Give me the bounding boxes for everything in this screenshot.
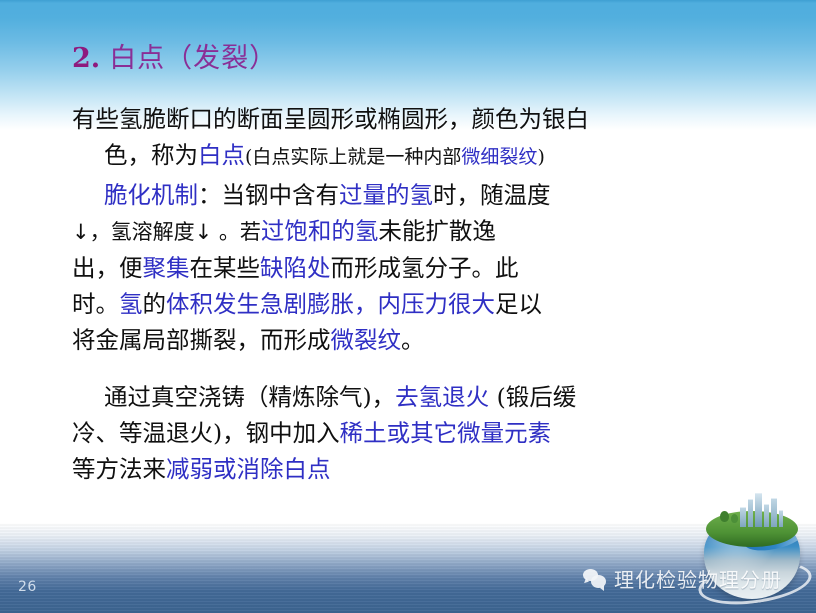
paragraph-2: 脆化机制：当钢中含有过量的氢时，随温度 ↓，氢溶解度↓ 。若过饱和的氢未能扩散逸… xyxy=(72,177,712,358)
slide-title-number: 2. xyxy=(72,43,100,74)
p3-line-2: 冷、等温退火)，钢中加入稀土或其它微量元素 xyxy=(72,415,712,451)
p2-line-2: ↓，氢溶解度↓ 。若过饱和的氢未能扩散逸 xyxy=(72,213,712,250)
p3-line-3: 等方法来减弱或消除白点 xyxy=(72,451,712,487)
p2-l5-text-b: 。 xyxy=(401,326,425,354)
p1-l2-note-a: (白点实际上就是一种内部 xyxy=(245,146,461,168)
p2-l2-text-b: 未能扩散逸 xyxy=(378,217,496,245)
slide-body: 有些氢脆断口的断面呈圆形或椭圆形，颜色为银白 色，称为白点(白点实际上就是一种内… xyxy=(72,101,712,487)
watermark-label: 理化检验物理分册 xyxy=(614,564,782,593)
slide-title-text: 白点（发裂） xyxy=(109,36,277,75)
p3-l2-highlight: 稀土或其它微量元素 xyxy=(340,419,552,447)
p2-l5-text-a: 将金属局部撕裂，而形成 xyxy=(72,326,331,354)
p1-l2-note-highlight: 微细裂纹 xyxy=(461,146,537,168)
p2-l4-text-a: 时。 xyxy=(72,290,119,318)
p2-line-3: 出，便聚集在某些缺陷处而形成氢分子。此 xyxy=(72,250,712,286)
paragraph-1: 有些氢脆断口的断面呈圆形或椭圆形，颜色为银白 色，称为白点(白点实际上就是一种内… xyxy=(72,101,712,175)
p3-line-1: 通过真空浇铸（精炼除气)，去氢退火 (锻后缓 xyxy=(72,379,712,415)
p1-l2-text-a: 色，称为 xyxy=(104,141,198,169)
p2-l4-highlight-2: 体积发生急剧膨胀，内压力很大 xyxy=(166,290,495,318)
p2-l3-text-b: 在某些 xyxy=(190,254,261,282)
p2-l4-highlight-1: 氢 xyxy=(119,290,143,318)
p2-l1-highlight-2: 过量的氢 xyxy=(339,181,433,209)
p1-line-1: 有些氢脆断口的断面呈圆形或椭圆形，颜色为银白 xyxy=(72,101,712,137)
p1-l2-highlight: 白点 xyxy=(198,141,245,169)
p3-l1-highlight: 去氢退火 xyxy=(395,383,489,411)
p2-l5-highlight: 微裂纹 xyxy=(331,326,402,354)
p2-l4-text-c: 足以 xyxy=(495,290,542,318)
page-number: 26 xyxy=(18,579,37,595)
p2-line-4: 时。氢的体积发生急剧膨胀，内压力很大足以 xyxy=(72,286,712,322)
p2-line-5: 将金属局部撕裂，而形成微裂纹。 xyxy=(72,322,712,358)
p3-l1-text-a: 通过真空浇铸（精炼除气)， xyxy=(104,383,395,411)
p2-l2-highlight: 过饱和的氢 xyxy=(261,217,379,245)
p3-l3-text-a: 等方法来 xyxy=(72,455,166,483)
presentation-slide: 2. 白点（发裂） 有些氢脆断口的断面呈圆形或椭圆形，颜色为银白 色，称为白点(… xyxy=(0,0,816,613)
watermark: 理化检验物理分册 xyxy=(583,564,782,593)
slide-title: 2. 白点（发裂） xyxy=(72,36,277,75)
city-skyline-icon xyxy=(738,493,784,527)
p2-l3-highlight-1: 聚集 xyxy=(143,254,190,282)
tree-icon xyxy=(720,511,729,522)
p3-l2-text-a: 冷、等温退火)，钢中加入 xyxy=(72,419,340,447)
wechat-icon xyxy=(583,569,607,589)
p2-l1-text-b: 时，随温度 xyxy=(433,181,551,209)
p2-l3-highlight-2: 缺陷处 xyxy=(260,254,331,282)
tree-icon-2 xyxy=(731,514,738,523)
p1-line-2: 色，称为白点(白点实际上就是一种内部微细裂纹) xyxy=(72,137,712,175)
p3-l3-highlight: 减弱或消除白点 xyxy=(166,455,331,483)
sky-top-edge xyxy=(0,0,816,3)
p2-l3-text-a: 出，便 xyxy=(72,254,143,282)
p2-l4-text-b: 的 xyxy=(143,290,167,318)
p1-l2-note-b: ) xyxy=(537,146,544,168)
p2-line-1: 脆化机制：当钢中含有过量的氢时，随温度 xyxy=(72,177,712,213)
p2-l1-text-a: ：当钢中含有 xyxy=(198,181,339,209)
p3-l1-text-b: (锻后缓 xyxy=(489,383,576,411)
paragraph-3: 通过真空浇铸（精炼除气)，去氢退火 (锻后缓 冷、等温退火)，钢中加入稀土或其它… xyxy=(72,379,712,487)
p2-l3-text-c: 而形成氢分子。此 xyxy=(331,254,519,282)
p2-l2-text-a: ↓，氢溶解度↓ 。若 xyxy=(72,220,261,244)
p2-l1-highlight-1: 脆化机制 xyxy=(104,181,198,209)
